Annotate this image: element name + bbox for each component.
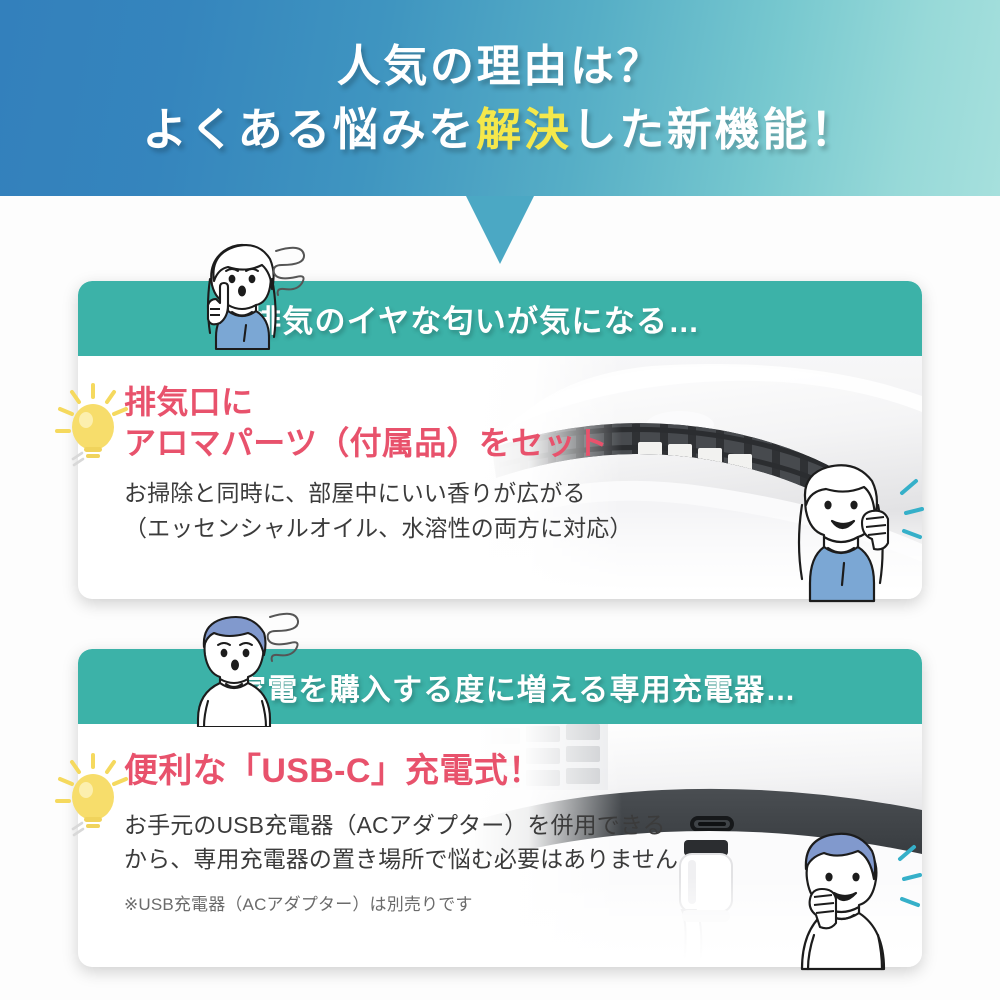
worried-man-icon: [168, 603, 304, 727]
banner-headline-line1: 人気の理由は？: [337, 45, 663, 89]
lightbulb-icon: [48, 751, 138, 841]
banner-text-pre: よくある悩みを: [142, 104, 476, 155]
card-headline-line1: 排気口に: [124, 382, 922, 423]
banner-text-highlight: 解決: [476, 104, 571, 155]
banner-headline-line2: よくある悩みを解決した新機能！: [142, 107, 858, 152]
lightbulb-icon: [48, 381, 138, 471]
feature-card-usbc: 家電を購入する度に増える専用充電器… 便利な「USB-C」充電式！ お手元のUS…: [78, 649, 922, 967]
banner-down-arrow-icon: [466, 196, 534, 264]
happy-man-icon: [780, 811, 930, 971]
card-problem-title: 家電を購入する度に増える専用充電器…: [236, 665, 797, 709]
feature-card-aroma: 排気のイヤな匂いが気になる… 排気口に アロマパーツ（付属品）をセット お掃除と…: [78, 281, 922, 599]
infographic-page: 人気の理由は？ よくある悩みを解決した新機能！: [0, 0, 1000, 1000]
card-problem-title: 排気のイヤな匂いが気になる…: [250, 296, 700, 341]
card-headline-line1: 便利な「USB-C」充電式！: [124, 750, 922, 794]
happy-woman-icon: [780, 443, 930, 603]
worried-woman-icon: [176, 233, 312, 357]
header-banner: 人気の理由は？ よくある悩みを解決した新機能！: [0, 0, 1000, 196]
banner-text-post: した新機能！: [572, 104, 858, 155]
